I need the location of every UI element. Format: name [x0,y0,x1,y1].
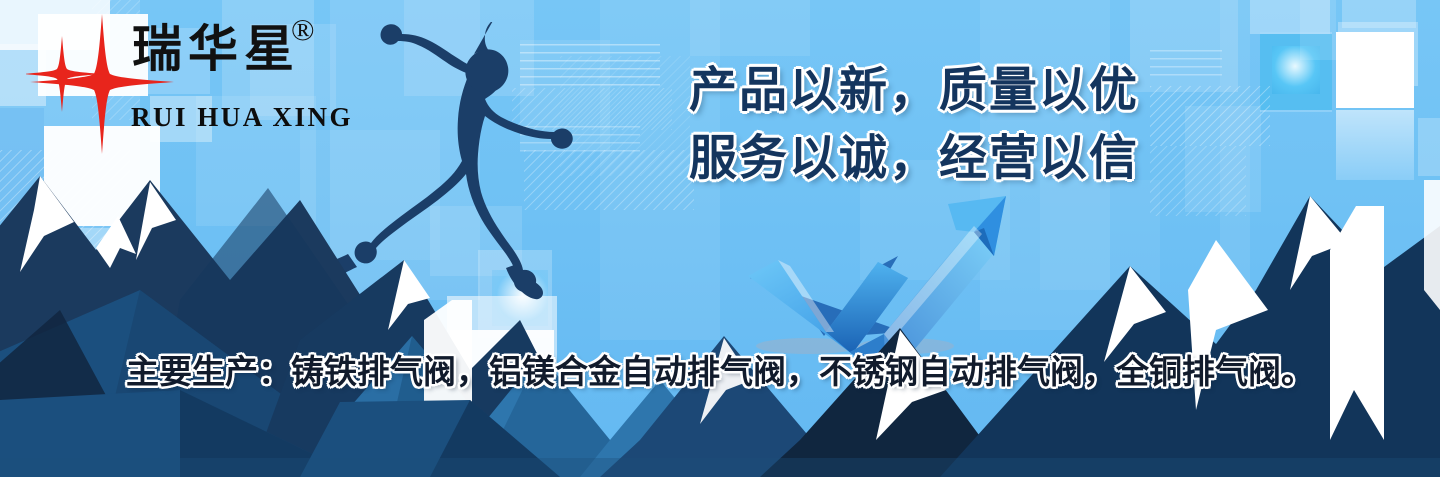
product-list-text: 主要生产：铸铁排气阀，铝镁合金自动排气阀，不锈钢自动排气阀，全铜排气阀。 [0,348,1440,396]
company-logo: 瑞华星 ® RUI HUA XING [26,8,356,148]
slogan-line-1: 产品以新，质量以优 [664,56,1164,124]
company-banner: 瑞华星 ® RUI HUA XING 产品以新，质量以优 服务以诚，经营以信 主… [0,0,1440,477]
registered-mark-icon: ® [291,14,315,45]
slogan-block: 产品以新，质量以优 服务以诚，经营以信 [664,56,1164,192]
logo-brand-en: RUI HUA XING [131,104,353,131]
logo-brand-cn: 瑞华星 [132,24,300,74]
slogan-line-2: 服务以诚，经营以信 [664,124,1164,192]
